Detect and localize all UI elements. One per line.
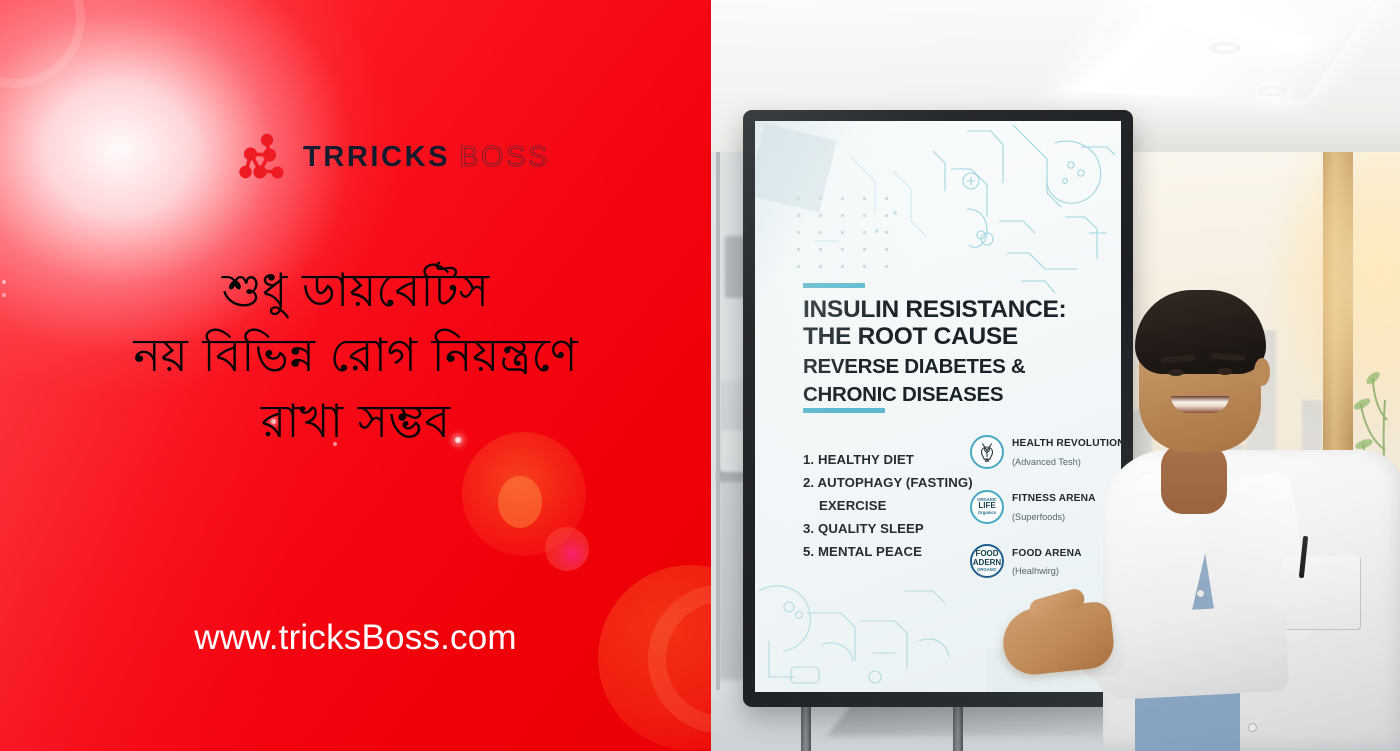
bokeh-orb-3 — [545, 527, 589, 571]
right-photo-panel: INSULIN RESISTANCE: THE ROOT CAUSE REVER… — [711, 0, 1400, 751]
left-red-panel: TRRICKS BOSS শুধু ডায়বেটিস নয় বিভিন্ন … — [0, 0, 711, 751]
list-item: 1. HEALTHY DIET — [803, 449, 983, 472]
list-item: EXERCISE — [803, 495, 983, 518]
coat-button-2 — [1249, 724, 1256, 731]
leaf-lightbulb-icon — [970, 435, 1004, 469]
eye-left — [1168, 369, 1184, 376]
bokeh-ring-1 — [0, 0, 85, 88]
ceiling-downlight-2 — [1258, 86, 1286, 96]
shirt-button-1 — [1197, 590, 1204, 597]
hair — [1135, 290, 1266, 374]
headline-line-2: নয় বিভিন্ন রোগ নিয়ন্ত্রণে — [0, 323, 711, 388]
ear — [1254, 358, 1270, 386]
brand-wordmark: TRRICKS BOSS — [303, 141, 550, 174]
smile — [1171, 396, 1229, 413]
badge-seal-bottom: Organics — [978, 510, 996, 515]
coat-pocket — [1283, 556, 1361, 630]
dot-grid-decoration — [797, 197, 907, 269]
accent-rule-top — [803, 283, 865, 288]
brand-lockup[interactable]: TRRICKS BOSS — [236, 131, 550, 183]
poster-step-list: 1. HEALTHY DIET 2. AUTOPHAGY (FASTING) E… — [803, 449, 983, 564]
banner-stage: TRRICKS BOSS শুধু ডায়বেটিস নয় বিভিন্ন … — [0, 0, 1400, 751]
list-item: 2. AUTOPHAGY (FASTING) — [803, 472, 983, 495]
website-url[interactable]: www.tricksBoss.com — [0, 618, 711, 658]
badge-seal-text: FOOD ADERN ORGANIC — [973, 550, 1001, 572]
page-title: শুধু ডায়বেটিস নয় বিভিন্ন রোগ নিয়ন্ত্র… — [0, 258, 711, 454]
bokeh-orb-2 — [498, 476, 542, 528]
list-item: 5. MENTAL PEACE — [803, 541, 983, 564]
doctor-figure — [1011, 238, 1400, 751]
food-modern-seal-icon: FOOD ADERN ORGANIC — [970, 544, 1004, 578]
list-item: 3. QUALITY SLEEP — [803, 518, 983, 541]
eye-right — [1217, 368, 1233, 375]
organic-life-seal-icon: ORGANIC LIFE Organics — [970, 490, 1004, 524]
badge-seal-text: ORGANIC LIFE Organics — [977, 498, 997, 516]
ceiling-downlight-1 — [1209, 42, 1241, 54]
bokeh-ring-2 — [648, 584, 711, 734]
headline-line-3: রাখা সম্ভব — [0, 389, 711, 454]
brand-name-bold: TRRICKS — [303, 141, 450, 174]
molecule-node-icon — [236, 131, 288, 183]
headline-line-1: শুধু ডায়বেটিস — [0, 258, 711, 323]
brand-name-light: BOSS — [459, 141, 550, 174]
accent-rule-bottom — [803, 408, 885, 413]
neck — [1161, 444, 1227, 514]
badge-seal-bottom: ORGANIC — [977, 567, 997, 572]
